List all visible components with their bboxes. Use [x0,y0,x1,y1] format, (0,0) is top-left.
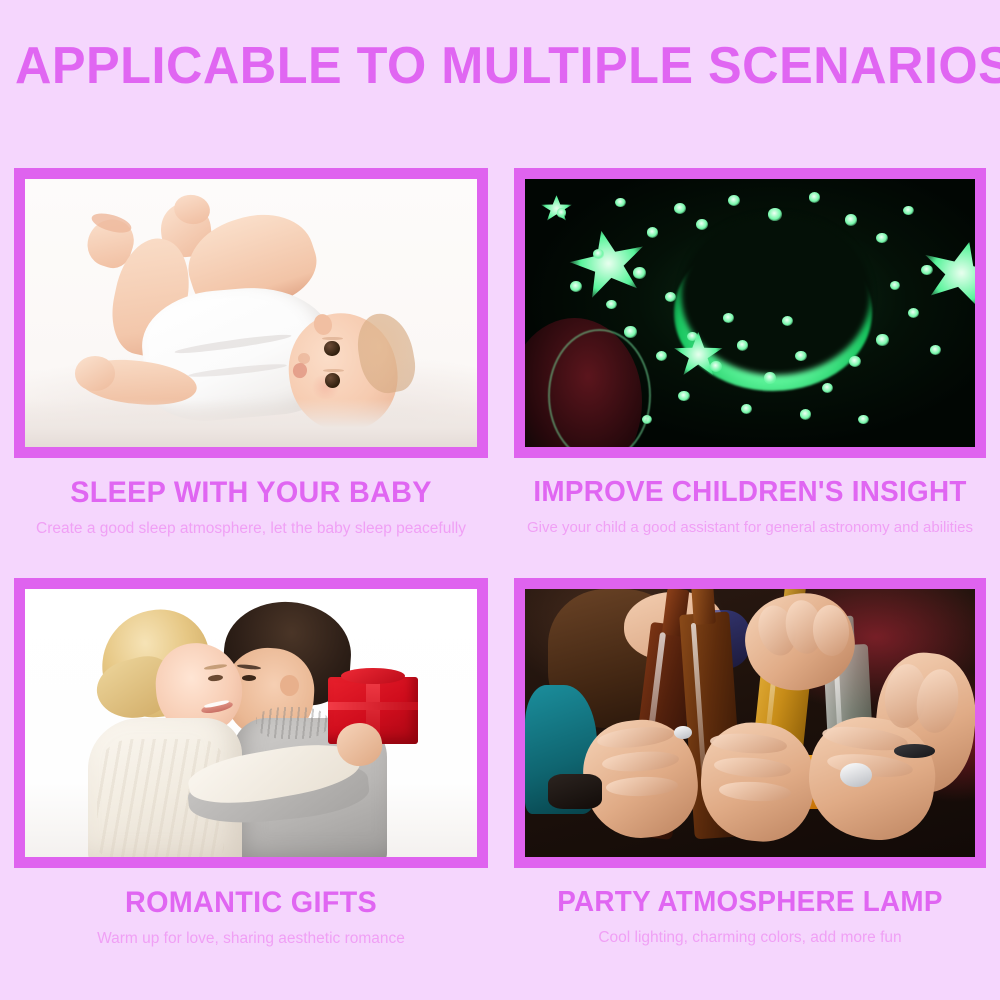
gift-ribbon-horizontal [328,702,418,710]
star-dot [687,332,698,342]
card-subtitle: Cool lighting, charming colors, add more… [514,929,986,947]
card-subtitle: Give your child a good assistant for gen… [514,519,986,536]
scenario-card-sleep-with-your-baby[interactable]: SLEEP WITH YOUR BABY Create a good sleep… [14,168,488,538]
man-eye [242,675,256,681]
star-dot [876,233,888,244]
star-dot [768,208,782,220]
star-dot [624,326,637,337]
star-dot [647,227,659,238]
star-dot [570,281,582,292]
scenario-card-party-atmosphere-lamp[interactable]: PARTY ATMOSPHERE LAMP Cool lighting, cha… [514,578,986,947]
card-title: PARTY ATMOSPHERE LAMP [523,886,976,919]
photo-frame [14,168,488,458]
card-title: IMPROVE CHILDREN'S INSIGHT [523,476,976,509]
card-subtitle: Create a good sleep atmosphere, let the … [14,520,488,538]
star-dot [764,372,777,384]
photo-frame [514,578,986,868]
ring-silver [840,763,872,787]
scenario-card-romantic-gifts[interactable]: ROMANTIC GIFTS Warm up for love, sharing… [14,578,488,948]
star-projection-photo [525,179,975,447]
bottle-neck [691,589,716,625]
star-dot [876,334,889,345]
star-dot [557,208,567,217]
scenario-card-grid: SLEEP WITH YOUR BABY Create a good sleep… [0,0,1000,1000]
ring-small [674,726,692,739]
photo-frame [514,168,986,458]
star-dot [606,300,617,310]
card-title: SLEEP WITH YOUR BABY [23,476,478,510]
star-dot [696,219,708,230]
star-dot [795,351,807,362]
ring-band [894,744,935,757]
baby-eye-1 [324,341,339,356]
man-turtleneck-collar [256,707,328,739]
card-subtitle: Warm up for love, sharing aesthetic roma… [14,930,488,948]
gift-bow [341,668,404,684]
bed-sheet-shadow [25,399,477,447]
card-title: ROMANTIC GIFTS [23,886,478,920]
couple-photo [25,589,477,857]
star-dot [741,404,752,414]
star-dot [633,267,646,278]
star-dot [593,249,605,259]
party-photo [525,589,975,857]
star-dot [849,356,861,367]
star-dot [723,313,734,323]
baby-photo [25,179,477,447]
star-dot [822,383,833,393]
infographic-page: APPLICABLE TO MULTIPLE SCENARIOS [0,0,1000,1000]
wrist-watch [548,774,602,809]
baby-fist [75,356,116,391]
projector-lamp-rim [548,329,651,447]
scenario-card-improve-childrens-insight[interactable]: IMPROVE CHILDREN'S INSIGHT Give your chi… [514,168,986,536]
photo-frame [14,578,488,868]
star-dot [930,345,941,355]
star-dot [845,214,858,226]
star-dot [615,198,626,208]
star-dot [737,340,749,351]
star-dot [678,391,690,402]
star-dot [921,265,933,276]
